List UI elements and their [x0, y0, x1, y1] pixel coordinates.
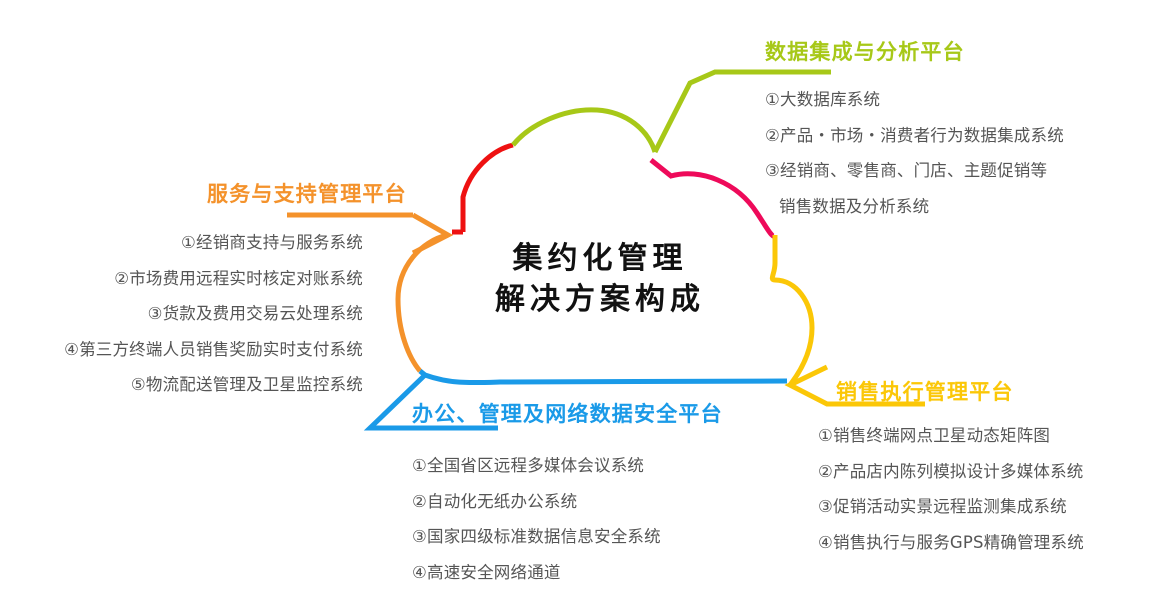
branch-title-data: 数据集成与分析平台 [765, 36, 965, 66]
list-item: ②产品店内陈列模拟设计多媒体系统 [818, 454, 1084, 490]
list-item: ①经销商支持与服务系统 [0, 225, 363, 261]
list-item: ②市场费用远程实时核定对账系统 [0, 261, 363, 297]
list-item: ④销售执行与服务GPS精确管理系统 [818, 525, 1084, 561]
branch-items-data: ①大数据库系统 ②产品・市场・消费者行为数据集成系统 ③经销商、零售商、门店、主… [765, 82, 1064, 224]
center-title-line-2: 解决方案构成 [455, 279, 745, 320]
list-item: ④高速安全网络通道 [412, 555, 661, 591]
diagram-canvas: 集约化管理 解决方案构成 数据集成与分析平台 ①大数据库系统 ②产品・市场・消费… [0, 0, 1153, 591]
branch-items-sales: ①销售终端网点卫星动态矩阵图 ②产品店内陈列模拟设计多媒体系统 ③促销活动实景远… [818, 418, 1084, 560]
leader-orange [413, 215, 448, 253]
list-item: ①全国省区远程多媒体会议系统 [412, 448, 661, 484]
center-title: 集约化管理 解决方案构成 [455, 238, 745, 321]
list-item: ③国家四级标准数据信息安全系统 [412, 519, 661, 555]
cloud-arc-blue [420, 371, 787, 383]
list-item: ①销售终端网点卫星动态矩阵图 [818, 418, 1084, 454]
list-item: ③货款及费用交易云处理系统 [0, 296, 363, 332]
branch-title-office: 办公、管理及网络数据安全平台 [412, 398, 723, 428]
cloud-arc-green [513, 110, 655, 152]
cloud-arc-red [463, 145, 513, 232]
list-item: ①大数据库系统 [765, 82, 1064, 118]
list-item: ②产品・市场・消费者行为数据集成系统 [765, 118, 1064, 154]
list-item: ③经销商、零售商、门店、主题促销等 [765, 153, 1064, 189]
cloud-arc-orange [398, 235, 448, 371]
cloud-arc-pink [651, 160, 775, 236]
list-item: ④第三方终端人员销售奖励实时支付系统 [0, 332, 363, 368]
branch-items-office: ①全国省区远程多媒体会议系统 ②自动化无纸办公系统 ③国家四级标准数据信息安全系… [412, 448, 661, 590]
branch-items-service: ①经销商支持与服务系统 ②市场费用远程实时核定对账系统 ③货款及费用交易云处理系… [0, 225, 363, 403]
list-item: ③促销活动实景远程监测集成系统 [818, 489, 1084, 525]
list-item: 销售数据及分析系统 [765, 189, 1064, 225]
branch-title-service: 服务与支持管理平台 [207, 178, 407, 208]
branch-title-sales: 销售执行管理平台 [836, 376, 1014, 406]
cloud-arc-yellow [772, 235, 812, 385]
list-item: ⑤物流配送管理及卫星监控系统 [0, 367, 363, 403]
list-item: ②自动化无纸办公系统 [412, 484, 661, 520]
center-title-line-1: 集约化管理 [455, 238, 745, 279]
